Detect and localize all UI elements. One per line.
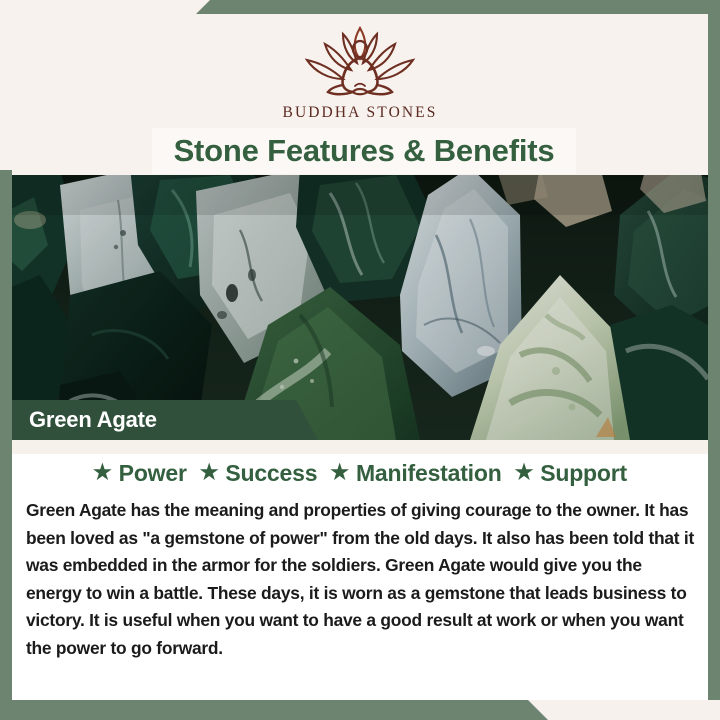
header: BUDDHA STONES Stone Features & Benefits [0, 0, 720, 176]
keyword-label: Support [540, 460, 627, 487]
infographic-page: BUDDHA STONES Stone Features & Benefits [0, 0, 720, 720]
keyword-label: Manifestation [356, 460, 502, 487]
content-panel: ★ Power ★ Success ★ Manifestation ★ Supp… [12, 440, 708, 700]
frame-left-bar [0, 170, 12, 720]
page-title: Stone Features & Benefits [152, 128, 576, 174]
frame-bottom-bar [0, 700, 548, 720]
frame-right-bar [708, 0, 720, 700]
keyword-label: Power [119, 460, 187, 487]
frame-top-bar [196, 0, 720, 14]
star-icon: ★ [330, 462, 349, 483]
stone-name: Green Agate [29, 407, 157, 433]
brand-name: BUDDHA STONES [283, 104, 438, 122]
keyword-label: Success [225, 460, 317, 487]
content-top-divider [12, 440, 708, 454]
keyword-manifestation: ★ Manifestation [330, 460, 501, 487]
lotus-meditation-figure-icon [281, 22, 439, 100]
keyword-success: ★ Success [200, 460, 318, 487]
keyword-support: ★ Support [515, 460, 627, 487]
star-icon: ★ [515, 462, 534, 483]
keyword-list: ★ Power ★ Success ★ Manifestation ★ Supp… [12, 460, 708, 487]
page-title-text: Stone Features & Benefits [174, 133, 555, 169]
keyword-power: ★ Power [93, 460, 187, 487]
description-text: Green Agate has the meaning and properti… [26, 497, 698, 662]
stone-photo: Green Agate [0, 175, 720, 440]
star-icon: ★ [93, 462, 112, 483]
star-icon: ★ [200, 462, 219, 483]
stone-caption-banner: Green Agate [0, 400, 318, 440]
brand-logo: BUDDHA STONES [0, 22, 720, 122]
